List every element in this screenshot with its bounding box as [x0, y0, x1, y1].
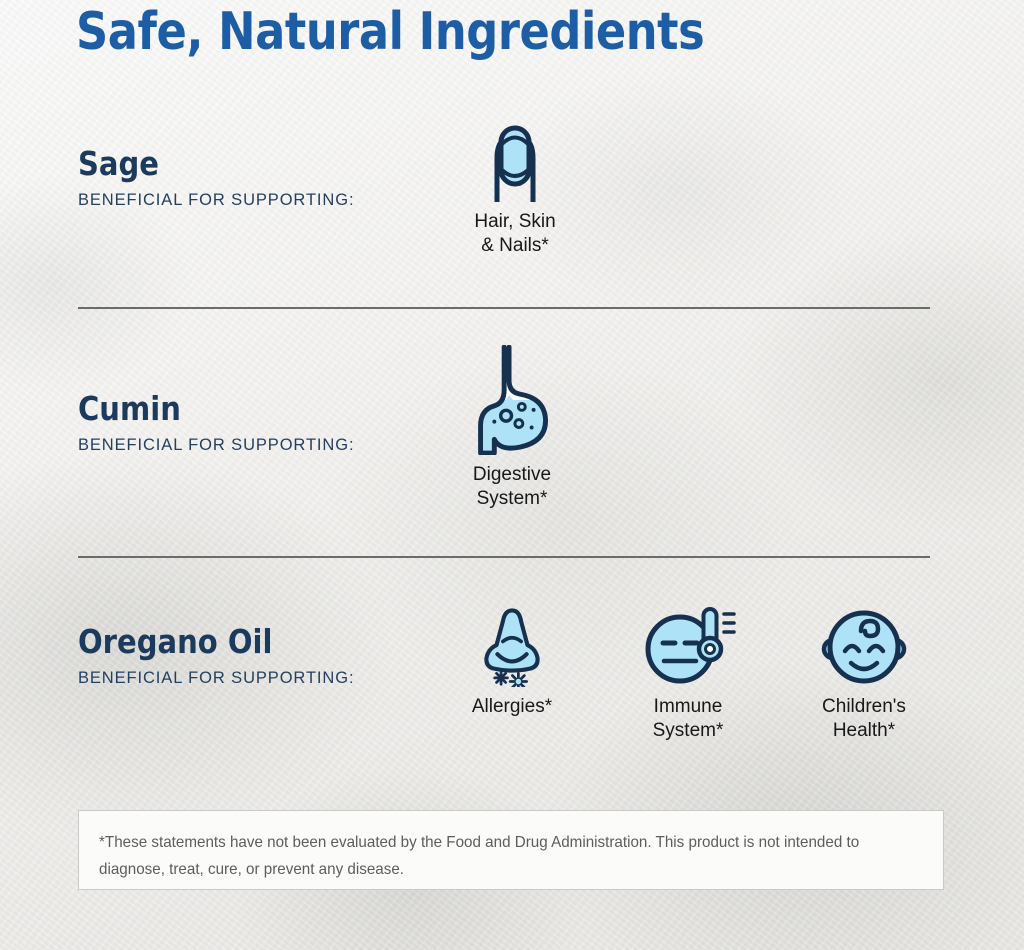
benefit-icon-group: Hair, Skin & Nails*	[455, 120, 575, 258]
fingernail-icon	[469, 120, 561, 202]
benefit-item-allergies: Allergies*	[448, 605, 576, 719]
ingredient-subtitle: BENEFICIAL FOR SUPPORTING:	[78, 668, 448, 688]
benefit-icon-group: Allergies*	[448, 605, 928, 743]
ingredient-text-block: Sage BENEFICIAL FOR SUPPORTING:	[78, 145, 448, 210]
benefit-label: Allergies*	[472, 695, 552, 719]
benefit-item-childrens-health: Children's Health*	[800, 605, 928, 743]
disclaimer-box: *These statements have not been evaluate…	[78, 810, 944, 890]
ingredient-text-block: Cumin BENEFICIAL FOR SUPPORTING:	[78, 390, 448, 455]
ingredients-panel: Safe, Natural Ingredients Sage BENEFICIA…	[0, 0, 1024, 950]
sick-face-thermometer-icon	[638, 605, 738, 687]
ingredient-text-block: Oregano Oil BENEFICIAL FOR SUPPORTING:	[78, 623, 448, 688]
benefit-label: Immune System*	[653, 695, 724, 743]
baby-face-icon	[814, 605, 914, 687]
ingredient-subtitle: BENEFICIAL FOR SUPPORTING:	[78, 435, 448, 455]
benefit-icon-group: Digestive System*	[452, 345, 572, 511]
page-title: Safe, Natural Ingredients	[76, 2, 704, 62]
disclaimer-text: *These statements have not been evaluate…	[99, 829, 882, 883]
ingredient-section-cumin: Cumin BENEFICIAL FOR SUPPORTING:	[0, 345, 1024, 545]
ingredient-section-oregano-oil: Oregano Oil BENEFICIAL FOR SUPPORTING:	[0, 605, 1024, 785]
ingredient-section-sage: Sage BENEFICIAL FOR SUPPORTING: Hair, Sk…	[0, 120, 1024, 290]
benefit-label: Children's Health*	[822, 695, 906, 743]
benefit-item-digestive-system: Digestive System*	[452, 345, 572, 511]
ingredient-subtitle: BENEFICIAL FOR SUPPORTING:	[78, 190, 448, 210]
benefit-label: Hair, Skin & Nails*	[474, 210, 555, 258]
ingredient-name: Cumin	[78, 390, 404, 428]
benefit-label: Digestive System*	[473, 463, 551, 511]
benefit-item-immune-system: Immune System*	[624, 605, 752, 743]
ingredient-name: Sage	[78, 145, 404, 183]
stomach-icon	[462, 345, 562, 455]
nose-allergy-icon	[462, 605, 562, 687]
ingredient-name: Oregano Oil	[78, 623, 404, 661]
section-divider	[78, 307, 930, 309]
benefit-item-hair-skin-nails: Hair, Skin & Nails*	[455, 120, 575, 258]
section-divider	[78, 556, 930, 558]
